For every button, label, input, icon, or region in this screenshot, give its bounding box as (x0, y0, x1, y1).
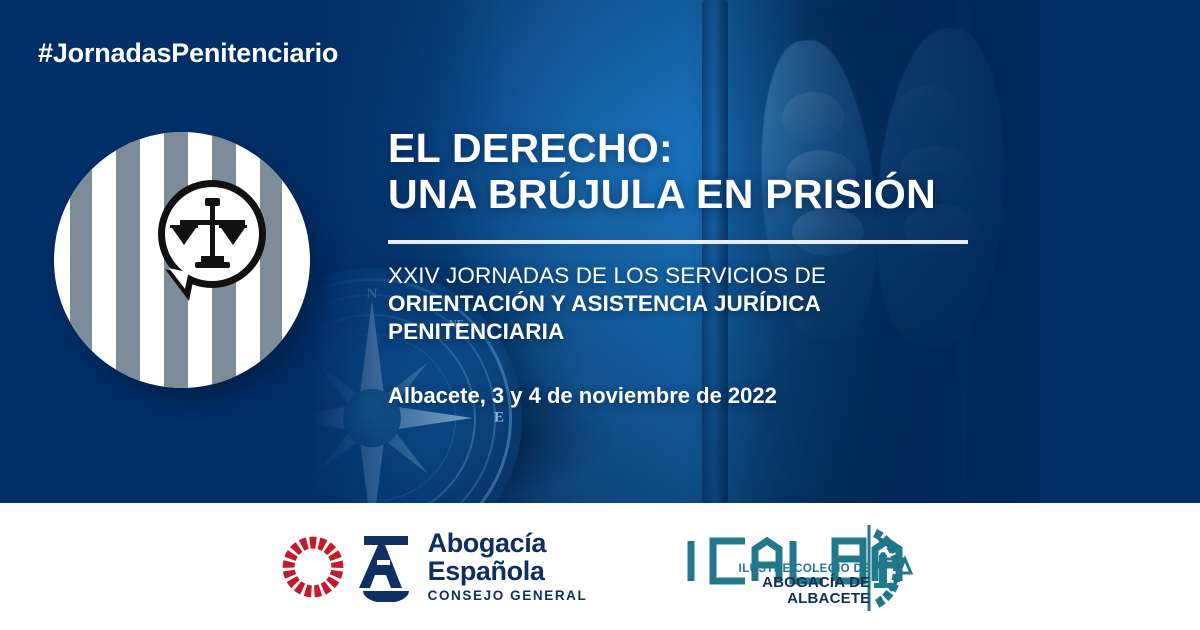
scales-of-justice-icon (176, 198, 248, 272)
footer-logos: Abogacía Española CONSEJO GENERAL (0, 503, 1200, 630)
title-line-2: UNA BRÚJULA EN PRISIÓN (388, 171, 936, 217)
title-divider (388, 240, 968, 244)
justice-badge (54, 132, 310, 388)
hero-section: N S E W NE NW SW SE #JornadasPenitenciar… (0, 0, 1200, 503)
sdg-color-wheel-icon (282, 536, 344, 598)
title-line-1: EL DERECHO: (388, 125, 673, 171)
7a-monogram-icon (358, 532, 414, 602)
subtitle-line-1: XXIV JORNADAS DE LOS SERVICIOS DE (388, 263, 826, 288)
cgae-line-1: Abogacía (428, 530, 588, 557)
event-subtitle: XXIV JORNADAS DE LOS SERVICIOS DE ORIENT… (388, 262, 988, 346)
logo-icalba[interactable]: ILUSTRE COLEGIO DE ABOGACÍA DE ALBACETE (683, 519, 918, 615)
icalba-sub-line-2: ABOGACÍA DE ALBACETE (683, 575, 870, 607)
hero-text-block: EL DERECHO: UNA BRÚJULA EN PRISIÓN XXIV … (388, 126, 988, 409)
page-title: EL DERECHO: UNA BRÚJULA EN PRISIÓN (388, 126, 988, 218)
event-poster: N S E W NE NW SW SE #JornadasPenitenciar… (0, 0, 1200, 630)
cgae-line-2: Española (428, 558, 588, 585)
icalba-subtitle: ILUSTRE COLEGIO DE ABOGACÍA DE ALBACETE (683, 563, 870, 607)
subtitle-line-2: ORIENTACIÓN Y ASISTENCIA JURÍDICA PENITE… (388, 291, 820, 344)
event-date-location: Albacete, 3 y 4 de noviembre de 2022 (388, 383, 988, 409)
logo-abogacia-espanola[interactable]: Abogacía Española CONSEJO GENERAL (282, 530, 588, 603)
abogacia-espanola-text: Abogacía Española CONSEJO GENERAL (428, 530, 588, 603)
hashtag: #JornadasPenitenciario (38, 38, 338, 69)
cgae-line-3: CONSEJO GENERAL (428, 589, 588, 603)
